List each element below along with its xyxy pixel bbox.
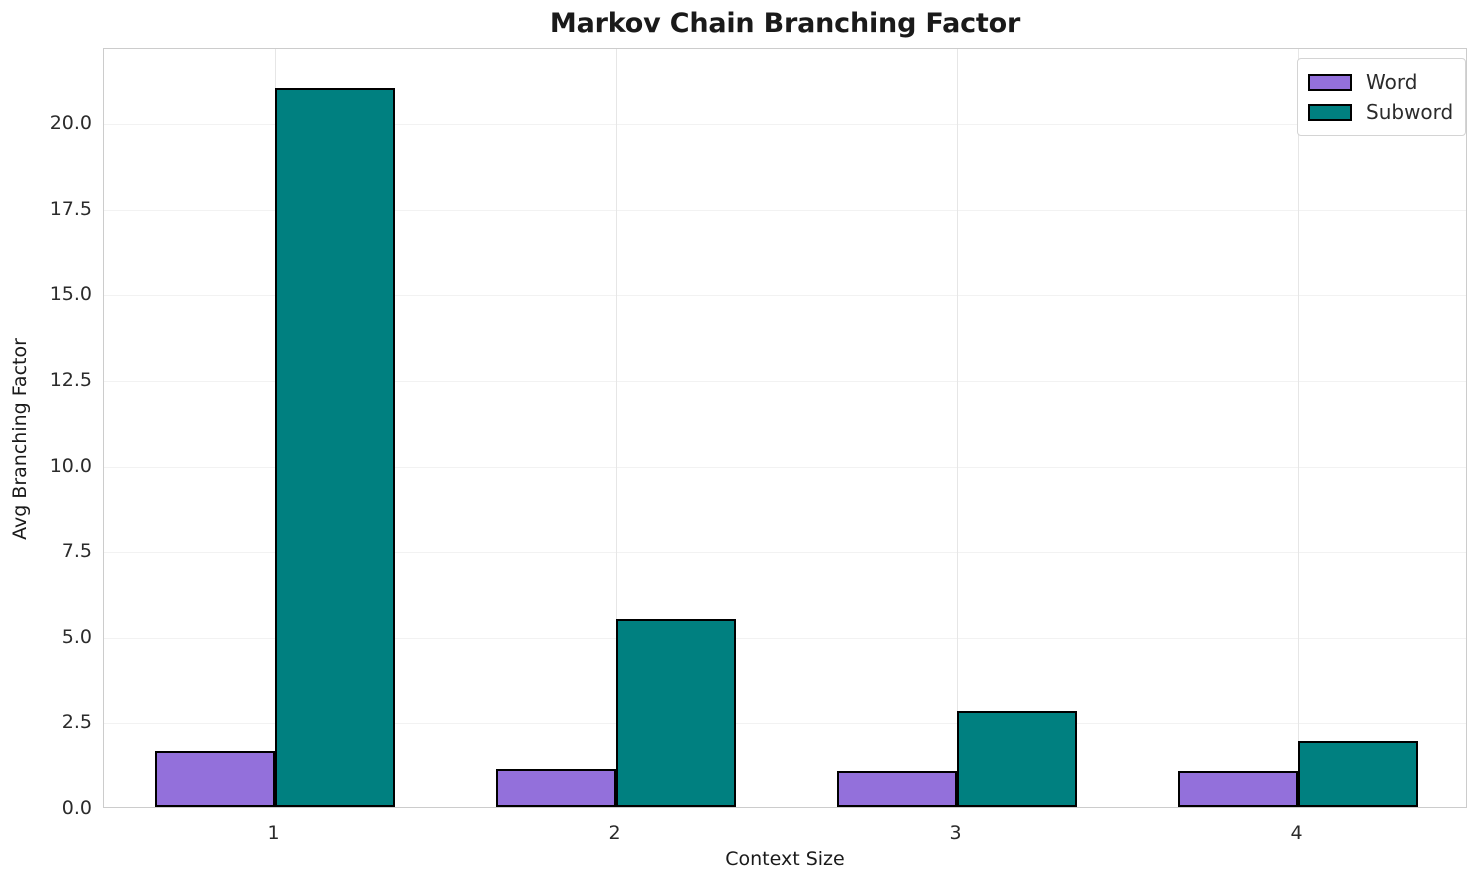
chart-figure: Markov Chain Branching Factor Avg Branch…: [0, 0, 1484, 885]
y-tick-label: 12.5: [12, 369, 92, 391]
bar-word-2[interactable]: [496, 769, 616, 807]
x-tick-label: 2: [575, 822, 655, 844]
bar-subword-1[interactable]: [275, 88, 395, 807]
y-tick-label: 10.0: [12, 455, 92, 477]
legend-item[interactable]: Word: [1308, 67, 1453, 97]
bar-word-3[interactable]: [837, 771, 957, 807]
bar-subword-4[interactable]: [1298, 741, 1418, 807]
legend-swatch-subword: [1308, 104, 1352, 121]
x-tick-label: 1: [234, 822, 314, 844]
bar-word-1[interactable]: [155, 751, 275, 807]
bar-subword-2[interactable]: [616, 619, 736, 807]
gridline-vertical: [957, 49, 958, 807]
x-tick-label: 3: [916, 822, 996, 844]
y-tick-label: 15.0: [12, 283, 92, 305]
chart-legend: Word Subword: [1297, 58, 1466, 136]
bar-word-4[interactable]: [1178, 771, 1298, 807]
y-tick-label: 20.0: [12, 112, 92, 134]
legend-label-word: Word: [1366, 70, 1417, 94]
legend-swatch-word: [1308, 74, 1352, 91]
bar-subword-3[interactable]: [957, 711, 1077, 807]
y-tick-label: 5.0: [12, 626, 92, 648]
legend-item[interactable]: Subword: [1308, 97, 1453, 127]
y-tick-label: 17.5: [12, 198, 92, 220]
y-tick-label: 2.5: [12, 711, 92, 733]
x-axis-label: Context Size: [103, 848, 1467, 870]
x-tick-label: 4: [1257, 822, 1337, 844]
y-axis-ticks: 0.02.55.07.510.012.515.017.520.0: [0, 48, 92, 808]
gridline-vertical: [1298, 49, 1299, 807]
chart-title: Markov Chain Branching Factor: [103, 8, 1467, 39]
plot-area: [103, 48, 1467, 808]
x-axis-ticks: 1234: [103, 808, 1467, 848]
legend-label-subword: Subword: [1366, 100, 1453, 124]
y-tick-label: 7.5: [12, 540, 92, 562]
y-tick-label: 0.0: [12, 797, 92, 819]
